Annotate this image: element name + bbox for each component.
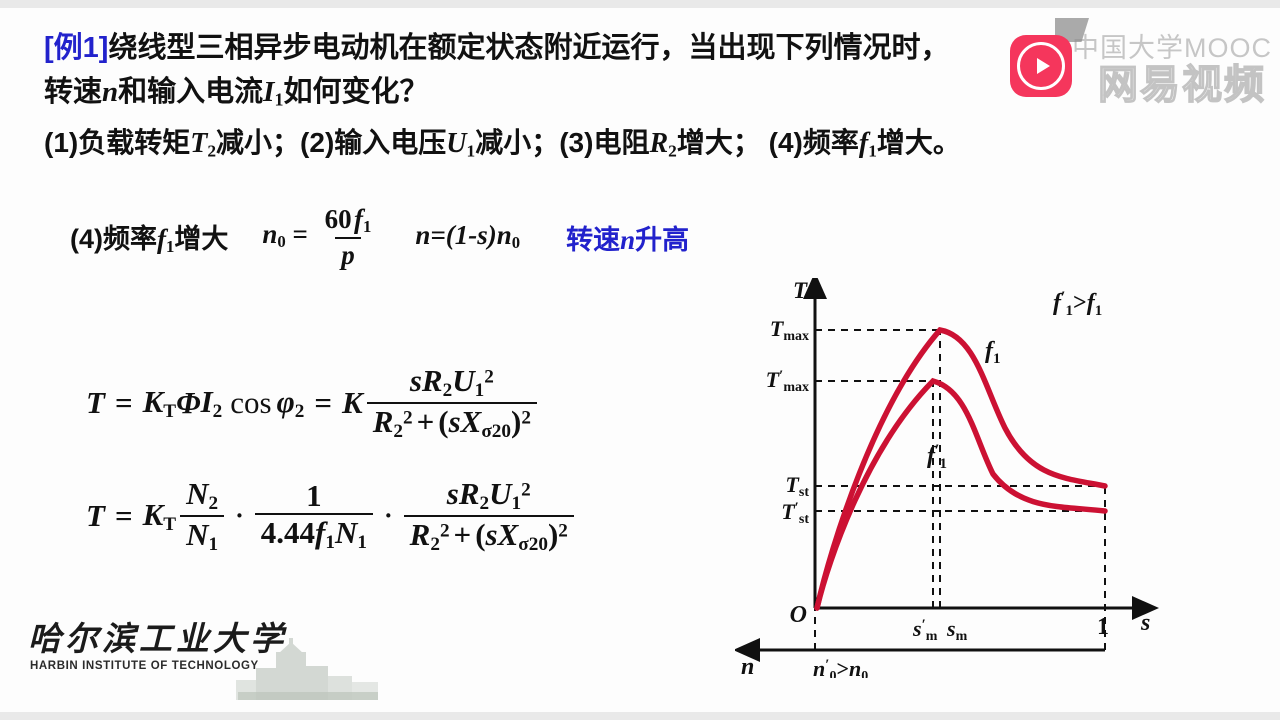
question-line-3: (1)负载转矩T2减小；(2)输入电压U1减小；(3)电阻R2增大； (4)频率… <box>44 121 1244 173</box>
chart-ytick-tst: Tst <box>785 472 809 500</box>
curve-f1-prime <box>817 381 1105 608</box>
eq1-fraction-denominator: R22+(sXσ20)2 <box>367 402 537 442</box>
slip-equation: n=(1-s)n <box>415 220 511 250</box>
eq2-KT: KT <box>143 497 177 536</box>
cond1-pre: (1)负载转矩 <box>44 127 190 158</box>
eq2-fraction-slip: sR2U12 R22+(sXσ20)2 <box>404 478 574 555</box>
chart-y-axis-label: T <box>793 278 808 303</box>
cond4-post: 增大。 <box>877 127 961 158</box>
chart-xtick-one: 1 <box>1097 614 1109 640</box>
eq2-fraction-turns: N2 N1 <box>180 478 224 555</box>
slide-canvas: [例1]绕线型三相异步电动机在额定状态附近运行，当出现下列情况时， 转速n和输入… <box>0 0 1280 720</box>
torque-slip-chart: T Tmax T′max Tst T′st O s′m sm 1 s n n′0… <box>735 278 1175 678</box>
var-n-conclusion: n <box>620 225 635 255</box>
chart-svg: T Tmax T′max Tst T′st O s′m sm 1 s n n′0… <box>735 278 1175 678</box>
cond1-post: 减小； <box>216 127 300 158</box>
play-icon-triangle <box>1037 58 1050 74</box>
chart-ytick-tst-prime: T′st <box>781 499 809 527</box>
equation-synchronous-speed: n0 = 60 f1 p <box>262 205 381 269</box>
cond3-post: 增大； <box>677 127 761 158</box>
university-logo: 哈尔滨工业大学 HARBIN INSTITUTE OF TECHNOLOGY <box>28 622 388 702</box>
curve-f1 <box>817 330 1105 608</box>
eq1-fraction-numerator: sR2U12 <box>404 365 500 402</box>
equation-rotor-speed: n=(1-s)n0 <box>415 220 520 253</box>
equals-sign: = <box>293 219 308 249</box>
fraction-numerator: 60 f1 <box>319 205 378 237</box>
frame-edge-top <box>0 0 1280 8</box>
chart-ytick-tmax-prime: T′max <box>766 367 809 395</box>
equation-torque-general: T = KT Φ I2 cos φ2 = K sR2U12 R22+(sXσ20… <box>86 365 541 442</box>
fraction-60f1-over-p: 60 f1 p <box>319 205 378 269</box>
chart-n-axis-label: n <box>741 654 754 678</box>
frame-edge-bottom <box>0 712 1280 720</box>
eq2-dot-1: · <box>235 501 244 531</box>
eq1-equals-2: = <box>314 385 332 421</box>
eq1-KT: KT <box>143 384 177 423</box>
var-T2: T2 <box>190 128 216 159</box>
eq1-equals-1: = <box>115 385 133 421</box>
example-tag: [例1] <box>44 32 108 64</box>
answer-row: (4)频率f1增大 n0 = 60 f1 p n=(1-s)n0 转速n升高 <box>70 205 689 269</box>
eq1-K: K <box>342 385 363 421</box>
line2-part-c: 如何变化？ <box>283 76 428 108</box>
line2-part-a: 转速 <box>44 76 102 108</box>
logo-building-illustration <box>216 638 386 700</box>
chart-curve-label-f1: f1 <box>985 338 1001 367</box>
var-f1-answer: f1 <box>157 224 174 254</box>
eq1-lhs: T <box>86 385 105 421</box>
eq1-phi2: φ2 <box>277 384 305 423</box>
chart-ytick-tmax: Tmax <box>770 316 809 344</box>
fraction-denominator: p <box>335 237 361 269</box>
chart-xtick-sm-prime: s′m <box>912 616 938 644</box>
eq2-lhs: T <box>86 498 105 534</box>
var-I1: I1 <box>263 76 283 108</box>
var-R2: R2 <box>649 128 676 159</box>
netease-watermark-text: 网易视频 <box>1098 52 1266 110</box>
cond4-pre: (4)频率 <box>761 127 859 158</box>
eq2-equals: = <box>115 498 133 534</box>
line2-part-b: 和输入电流 <box>118 76 263 108</box>
var-n0: n0 <box>262 219 285 249</box>
chart-n-annotation: n′0>n0 <box>813 656 868 678</box>
cond2-post: 减小； <box>475 127 559 158</box>
eq2-fraction-emf: 1 4.44f1N1 <box>255 480 373 554</box>
var-f1: f1 <box>859 128 877 159</box>
var-n: n <box>102 76 118 108</box>
equation-torque-expanded: T = KT N2 N1 · 1 4.44f1N1 · sR2U12 R22+(… <box>86 478 578 555</box>
eq1-cos: cos <box>230 385 271 421</box>
chart-xtick-sm: sm <box>946 616 968 644</box>
eq1-fraction: sR2U12 R22+(sXσ20)2 <box>367 365 537 442</box>
play-icon-ring <box>1017 42 1065 90</box>
chart-x-axis-label: s <box>1140 610 1150 636</box>
question-line-1-text: 绕线型三相异步电动机在额定状态附近运行，当出现下列情况时， <box>108 32 949 64</box>
chart-origin-label: O <box>790 602 807 628</box>
chart-curve-label-f1-prime: f′1 <box>927 442 947 472</box>
answer-conclusion: 转速n升高 <box>566 218 689 257</box>
eq1-flux: Φ <box>176 385 200 421</box>
eq1-I2: I2 <box>201 384 223 423</box>
var-U1: U1 <box>446 128 475 159</box>
play-button-icon[interactable] <box>1010 35 1072 97</box>
eq2-dot-2: · <box>384 501 393 531</box>
answer-label: (4)频率f1增大 <box>70 217 228 257</box>
cond2-pre: (2)输入电压 <box>300 127 446 158</box>
cond3-pre: (3)电阻 <box>559 127 649 158</box>
chart-frequency-annotation: f′1>f1 <box>1053 289 1102 319</box>
